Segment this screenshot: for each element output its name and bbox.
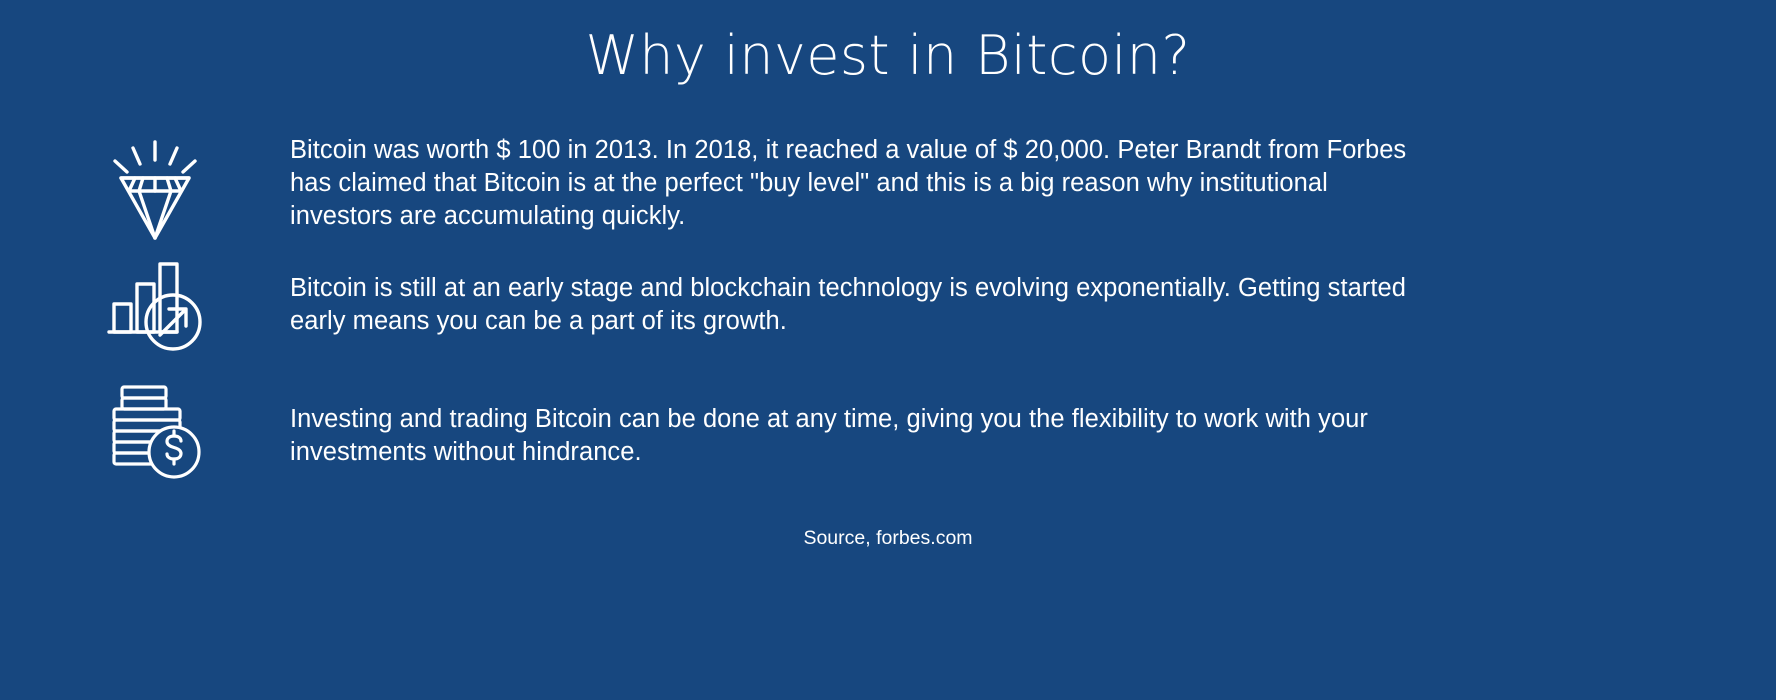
stacked-coins-dollar-icon [105, 381, 205, 481]
benefit-text: Bitcoin was worth $ 100 in 2013. In 2018… [290, 134, 1416, 233]
benefit-text-cell: Bitcoin is still at an early stage and b… [290, 248, 1776, 338]
stacked-coins-dollar-icon-cell [0, 371, 290, 481]
source-attribution: Source, forbes.com [0, 525, 1776, 551]
benefit-text: Investing and trading Bitcoin can be don… [290, 403, 1416, 469]
benefits-list: Bitcoin was worth $ 100 in 2013. In 2018… [0, 128, 1776, 491]
benefit-text-cell: Bitcoin was worth $ 100 in 2013. In 2018… [290, 128, 1776, 233]
list-item: Bitcoin is still at an early stage and b… [0, 248, 1776, 371]
diamond-icon-cell [0, 128, 290, 242]
diamond-icon [105, 138, 205, 242]
benefit-text-cell: Investing and trading Bitcoin can be don… [290, 371, 1776, 469]
list-item: Investing and trading Bitcoin can be don… [0, 371, 1776, 491]
slide-root: Why invest in Bitcoin? [0, 0, 1776, 700]
bar-chart-growth-icon [105, 254, 205, 354]
benefit-text: Bitcoin is still at an early stage and b… [290, 272, 1416, 338]
page-title: Why invest in Bitcoin? [0, 22, 1776, 90]
bar-chart-growth-icon-cell [0, 248, 290, 354]
list-item: Bitcoin was worth $ 100 in 2013. In 2018… [0, 128, 1776, 248]
